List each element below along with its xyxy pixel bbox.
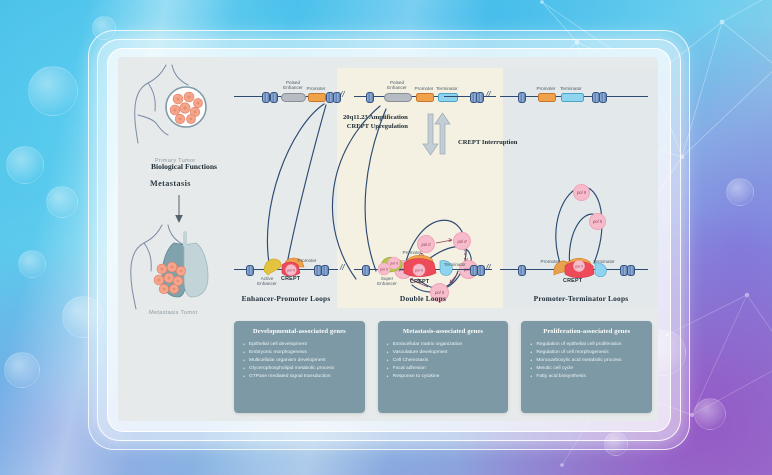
function-box-developmental: Developmental-associated genes Epithelia… [234,321,365,413]
promoter-element [538,93,556,102]
promoter-terminator-crept-complex: pol II [548,253,610,279]
svg-text:pol II: pol II [379,268,388,272]
bidirectional-arrow-icon [420,110,454,158]
terminator-element [561,93,584,102]
poised-enhancer-element [281,93,306,102]
function-list: Extracellular matrix organization Vascul… [386,341,501,381]
function-list-item: Fatty acid biosynthesis [529,373,644,381]
function-list-item: Glycerophospholipid metabolic process [242,365,357,373]
nucleosome-icon [246,265,254,276]
amplification-annotation-line2: CREPT Upregulation [347,123,408,130]
super-enhancer-label: Super Enhancer [374,276,400,286]
terminator-label: Terminator [591,259,617,264]
nucleosome-icon [627,265,635,276]
function-list-item: Epithelial cell development [242,341,357,349]
promoter-label: Promoter [305,86,327,91]
poised-enhancer-label-line2: Enhancer [283,85,303,90]
function-list-item: Multicellular organism development [242,357,357,365]
poised-enhancer-label: Poised Enhancer [383,80,411,90]
biological-functions-label: Biological Functions [136,162,232,171]
nucleosome-icon [518,265,526,276]
terminator-label: Terminator [434,86,460,91]
nucleosome-icon [476,92,484,103]
screenshot-stage: Primary Tumor Metastasis [0,0,772,475]
promoter-element [416,93,434,102]
promoter-label: Promoter [401,250,423,255]
function-list-item: Extracellular matrix organization [386,341,501,349]
svg-text:pol II: pol II [286,269,295,273]
sequence-break-icon: // [340,263,344,272]
crept-label: CREPT [563,278,582,284]
function-box-proliferation: Proliferation-associated genes Regulatio… [521,321,652,413]
pol2-bubble: pol II [573,184,590,201]
function-list-item: Regulation of epithelial cell proliferat… [529,341,644,349]
function-list-item: Meiotic cell cycle [529,365,644,373]
terminator-label: Terminator [558,86,584,91]
function-box-metastasis: Metastasis-associated genes Extracellula… [378,321,509,413]
metastasis-tumor-illustration [126,223,236,313]
function-list-item: Focal adhesion [386,365,501,373]
promoter-label: Promoter [539,259,561,264]
metastasis-label: Metastasis [150,179,191,188]
biological-functions-row: Developmental-associated genes Epithelia… [234,321,652,413]
diagram-panel: Primary Tumor Metastasis [118,57,658,421]
pol2-bubble: pol II [589,213,606,230]
svg-text:pol II: pol II [389,262,398,266]
nucleosome-icon [599,92,607,103]
sequence-break-icon: // [486,90,490,99]
poised-enhancer-element [384,93,412,102]
loop-title-promoter-terminator: Promoter-Terminator Loops [514,294,648,303]
function-list-item: Regulation of cell morphogenesis [529,349,644,357]
function-box-title: Developmental-associated genes [242,328,357,335]
poised-enhancer-label-line2: Enhancer [387,85,407,90]
active-enhancer-crept-complex: pol II [260,253,320,277]
poised-enhancer-label: Poised Enhancer [279,80,307,90]
sequence-break-icon: // [340,90,344,99]
active-enhancer-label: Active Enhancer [254,276,280,286]
crept-interruption-annotation: CREPT Interruption [458,139,517,148]
function-list: Regulation of epithelial cell proliferat… [529,341,644,381]
crept-label: CREPT [281,276,300,282]
svg-text:pol II: pol II [414,269,423,273]
nucleosome-icon [366,92,374,103]
function-list-item: Cell Chemotaxis [386,357,501,365]
loop-title-enhancer-promoter: Enhancer-Promoter Loops [234,294,338,303]
promoter-label: Promoter [413,86,435,91]
nucleosome-icon [477,265,485,276]
loop-title-double-loops: Double Loops [358,294,488,303]
nucleosome-icon [262,92,270,103]
function-box-title: Metastasis-associated genes [386,328,501,335]
function-list-item: Embryonic morphogenesis [242,349,357,357]
amplification-annotation-line1: 20q11.23 Amplification [343,114,408,121]
amplification-annotation: 20q11.23 Amplification CREPT Upregulatio… [343,114,408,132]
promoter-element [308,93,326,102]
nucleosome-icon [518,92,526,103]
metastasis-arrow-icon [172,193,186,225]
super-enhancer-label-line2: Enhancer [377,281,397,286]
function-box-title: Proliferation-associated genes [529,328,644,335]
terminator-label: Terminator [442,262,468,267]
metastasis-tumor-label: Metastasis Tumor [149,310,198,316]
function-list-item: GTPase mediated signal transduction [242,373,357,381]
svg-text:pol II: pol II [574,265,583,269]
crept-label: CREPT [410,279,429,285]
promoter-label: Promoter [296,258,318,263]
function-list-item: Vasculature development [386,349,501,357]
function-list-item: Monocarboxylic acid metabolic process [529,357,644,365]
function-list: Epithelial cell development Embryonic mo… [242,341,357,381]
nucleosome-icon [321,265,329,276]
promoter-label: Promoter [535,86,557,91]
nucleosome-icon [270,92,278,103]
primary-tumor-illustration [126,63,222,159]
function-list-item: Response to cytokine [386,373,501,381]
sequence-break-icon: // [486,263,490,272]
active-enhancer-label-line2: Enhancer [257,281,277,286]
